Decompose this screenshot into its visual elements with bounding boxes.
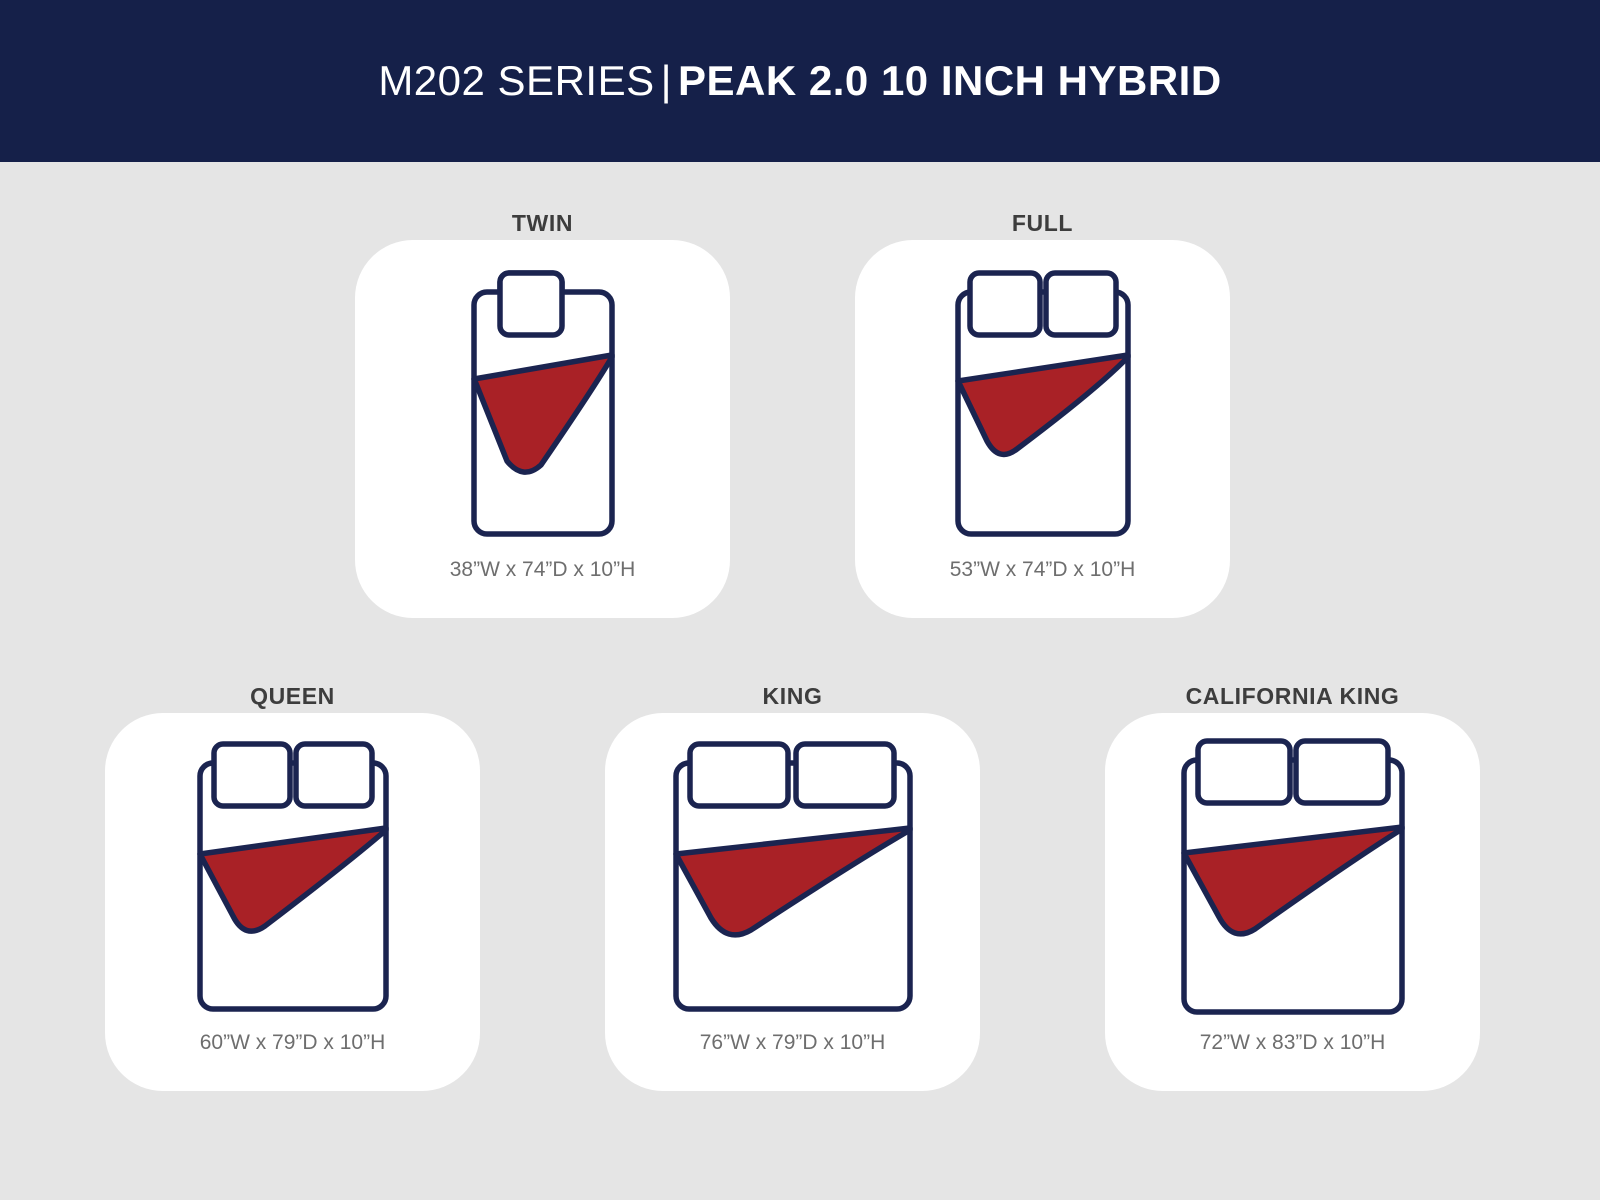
size-card-queen[interactable]: 60”W x 79”D x 10”H bbox=[105, 713, 480, 1091]
bed-full-icon-svg bbox=[947, 269, 1139, 537]
bed-california-king-icon bbox=[1105, 731, 1480, 1021]
size-label-full: FULL bbox=[855, 212, 1230, 240]
bed-king-icon-svg bbox=[665, 740, 921, 1012]
size-card-king[interactable]: 76”W x 79”D x 10”H bbox=[605, 713, 980, 1091]
size-cards-grid: TWIN 38”W x 74”D x 10”H FULL bbox=[0, 162, 1600, 1200]
size-cell-full: FULL 53”W x 74”D x 10”H bbox=[855, 212, 1230, 618]
page-header-bar: M202 SERIES|PEAK 2.0 10 INCH HYBRID bbox=[0, 0, 1600, 162]
page-title-series: M202 SERIES bbox=[378, 57, 654, 104]
size-label-twin: TWIN bbox=[355, 212, 730, 240]
bed-queen-icon bbox=[105, 731, 480, 1021]
size-label-queen: QUEEN bbox=[105, 685, 480, 713]
bed-king-icon bbox=[605, 731, 980, 1021]
size-card-full[interactable]: 53”W x 74”D x 10”H bbox=[855, 240, 1230, 618]
mattress-size-guide-page: { "header": { "series": "M202 SERIES", "… bbox=[0, 0, 1600, 1200]
bed-queen-icon-svg bbox=[189, 740, 397, 1012]
size-cell-king: KING 76”W x 79”D x 10”H bbox=[605, 685, 980, 1091]
size-dimensions-king: 76”W x 79”D x 10”H bbox=[605, 1032, 980, 1053]
page-title-product: PEAK 2.0 10 INCH HYBRID bbox=[678, 57, 1222, 104]
page-title: M202 SERIES|PEAK 2.0 10 INCH HYBRID bbox=[378, 60, 1221, 102]
size-cell-california-king: CALIFORNIA KING 72”W x 83”D x 10”H bbox=[1105, 685, 1480, 1091]
bed-california-king-icon-svg bbox=[1173, 737, 1413, 1015]
size-cell-twin: TWIN 38”W x 74”D x 10”H bbox=[355, 212, 730, 618]
size-dimensions-california-king: 72”W x 83”D x 10”H bbox=[1105, 1032, 1480, 1053]
bed-twin-icon bbox=[355, 258, 730, 548]
size-card-twin[interactable]: 38”W x 74”D x 10”H bbox=[355, 240, 730, 618]
size-cell-queen: QUEEN 60”W x 79”D x 10”H bbox=[105, 685, 480, 1091]
size-label-king: KING bbox=[605, 685, 980, 713]
bed-full-icon bbox=[855, 258, 1230, 548]
bed-twin-icon-svg bbox=[463, 269, 623, 537]
size-dimensions-queen: 60”W x 79”D x 10”H bbox=[105, 1032, 480, 1053]
size-label-california-king: CALIFORNIA KING bbox=[1105, 685, 1480, 713]
size-dimensions-twin: 38”W x 74”D x 10”H bbox=[355, 559, 730, 580]
size-card-california-king[interactable]: 72”W x 83”D x 10”H bbox=[1105, 713, 1480, 1091]
page-title-divider: | bbox=[655, 57, 678, 104]
size-dimensions-full: 53”W x 74”D x 10”H bbox=[855, 559, 1230, 580]
